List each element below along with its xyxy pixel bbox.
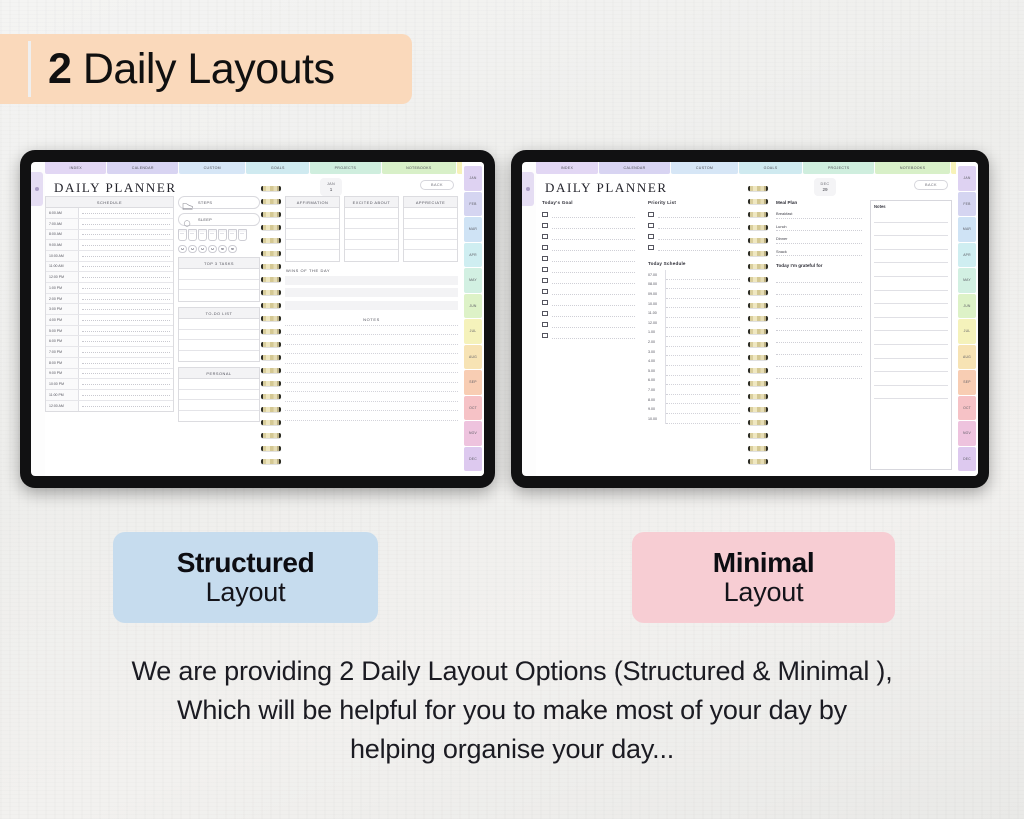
entry-line[interactable] xyxy=(552,233,635,240)
schedule-entry-line[interactable] xyxy=(79,208,173,218)
spiral-ring xyxy=(748,264,768,270)
top3-task-row[interactable] xyxy=(179,280,259,291)
schedule-row[interactable]: 11.00 xyxy=(648,308,740,318)
entry-line[interactable] xyxy=(552,244,635,251)
schedule-entry-line[interactable] xyxy=(666,270,740,280)
gratitude-row[interactable] xyxy=(286,208,339,219)
todo-row[interactable] xyxy=(179,330,259,341)
notes-row[interactable] xyxy=(874,304,948,318)
month-tab-apr[interactable]: APR xyxy=(958,243,976,268)
notes-row[interactable] xyxy=(285,344,458,354)
water-glass-icon[interactable] xyxy=(198,229,207,241)
goal-row[interactable] xyxy=(542,220,635,231)
entry-line[interactable] xyxy=(552,277,635,284)
schedule-row[interactable]: 7:00 AM xyxy=(46,219,173,230)
schedule-entry-line[interactable] xyxy=(79,262,173,272)
grateful-row[interactable] xyxy=(776,298,862,307)
schedule-time: 12:00 AM xyxy=(46,401,79,412)
meal-row[interactable]: Dinner xyxy=(776,236,862,244)
schedule-entry-line[interactable] xyxy=(666,328,740,338)
month-tab-dec[interactable]: DEC xyxy=(958,447,976,472)
tab-goals[interactable]: GOALS xyxy=(246,162,309,174)
notes-row[interactable] xyxy=(285,382,458,392)
top3-tasks-box: TOP 3 TASKS xyxy=(178,257,260,302)
schedule-time: 10:00 AM xyxy=(46,251,79,261)
tab-goals[interactable]: GOALS xyxy=(739,162,802,174)
schedule-entry-line[interactable] xyxy=(79,326,173,336)
notes-row[interactable] xyxy=(285,391,458,401)
month-tab-jan[interactable]: JAN xyxy=(464,166,482,191)
month-tab-sep[interactable]: SEP xyxy=(464,370,482,395)
gratitude-row[interactable] xyxy=(345,240,398,251)
month-tab-apr[interactable]: APR xyxy=(464,243,482,268)
priority-row[interactable] xyxy=(648,209,740,220)
personal-row[interactable] xyxy=(179,390,259,401)
month-tab-mar[interactable]: MAR xyxy=(958,217,976,242)
water-glass-icon[interactable] xyxy=(178,229,187,241)
tab-notebooks[interactable]: NOTEBOOKS xyxy=(382,162,456,174)
month-tab-rail-structured[interactable]: JANFEBMARAPRMAYJUNJULAUGSEPOCTNOVDEC xyxy=(462,162,484,476)
schedule-row[interactable]: 2.00 xyxy=(648,337,740,347)
checkbox-icon[interactable] xyxy=(542,289,548,295)
month-tab-jun[interactable]: JUN xyxy=(464,294,482,319)
goal-row[interactable] xyxy=(542,253,635,264)
entry-line[interactable] xyxy=(552,321,635,328)
gratitude-row[interactable] xyxy=(286,229,339,240)
month-tab-oct[interactable]: OCT xyxy=(464,396,482,421)
schedule-entry-line[interactable] xyxy=(666,337,740,347)
schedule-time: 8.00 xyxy=(648,395,666,405)
goal-row[interactable] xyxy=(542,264,635,275)
schedule-entry-line[interactable] xyxy=(79,251,173,261)
spiral-ring xyxy=(261,290,281,296)
date-badge[interactable]: DEC 29 xyxy=(814,178,836,196)
schedule-entry-line[interactable] xyxy=(79,219,173,229)
mood-face-icon[interactable] xyxy=(188,245,197,254)
schedule-row[interactable]: 1.00 xyxy=(648,328,740,338)
mood-face-icon[interactable] xyxy=(218,245,227,254)
entry-line[interactable] xyxy=(658,222,740,229)
month-tab-aug[interactable]: AUG xyxy=(958,345,976,370)
wins-of-the-day-rows[interactable] xyxy=(285,276,458,310)
entry-line[interactable] xyxy=(552,310,635,317)
top3-task-row[interactable] xyxy=(179,269,259,280)
spiral-ring xyxy=(748,433,768,439)
back-button[interactable]: BACK xyxy=(914,180,948,190)
mood-mouth xyxy=(181,248,184,250)
screen-minimal: INDEXCALENDARCUSTOMGOALSPROJECTSNOTEBOOK… xyxy=(522,162,978,476)
spiral-ring xyxy=(748,303,768,309)
schedule-entry-line[interactable] xyxy=(666,308,740,318)
gratitude-row[interactable] xyxy=(404,208,457,219)
checkbox-icon[interactable] xyxy=(542,234,548,240)
notes-row[interactable] xyxy=(874,386,948,400)
tab-projects[interactable]: PROJECTS xyxy=(310,162,380,174)
notes-row[interactable] xyxy=(285,353,458,363)
entry-line[interactable] xyxy=(552,266,635,273)
entry-line[interactable] xyxy=(658,244,740,251)
affirmation-rows[interactable] xyxy=(286,208,339,261)
tab-index[interactable]: INDEX xyxy=(45,162,106,174)
wins-of-the-day-label: WINS OF THE DAY xyxy=(286,268,458,273)
notes-row[interactable] xyxy=(874,250,948,264)
schedule-row[interactable]: 07.00 xyxy=(648,270,740,280)
entry-line[interactable] xyxy=(552,288,635,295)
meal-row[interactable]: Lunch xyxy=(776,224,862,232)
today-schedule-rows[interactable]: 07.0008.0009.0010.0011.0012.001.002.003.… xyxy=(648,270,740,424)
grateful-row[interactable] xyxy=(776,346,862,355)
priority-list-rows[interactable] xyxy=(648,209,740,253)
tab-custom[interactable]: CUSTOM xyxy=(179,162,245,174)
top3-task-row[interactable] xyxy=(179,290,259,301)
notes-row[interactable] xyxy=(285,410,458,420)
page-title: 2 Daily Layouts xyxy=(48,45,335,94)
month-tab-nov[interactable]: NOV xyxy=(958,421,976,446)
notes-rows[interactable] xyxy=(874,209,948,399)
month-tab-rail-minimal[interactable]: JANFEBMARAPRMAYJUNJULAUGSEPOCTNOVDEC xyxy=(956,162,978,476)
schedule-row[interactable]: 9.00 xyxy=(648,404,740,414)
notes-row[interactable] xyxy=(285,401,458,411)
goal-row[interactable] xyxy=(542,275,635,286)
notes-row[interactable] xyxy=(874,277,948,291)
schedule-row[interactable]: 5:00 PM xyxy=(46,326,173,337)
notes-row[interactable] xyxy=(285,363,458,373)
water-glass-icon[interactable] xyxy=(228,229,237,241)
notes-row[interactable] xyxy=(874,263,948,277)
goal-row[interactable] xyxy=(542,209,635,220)
goal-row[interactable] xyxy=(542,319,635,330)
schedule-time: 7.00 xyxy=(648,385,666,395)
todo-list-box: TO-DO LIST xyxy=(178,307,260,362)
steps-label: STEPS xyxy=(198,200,212,205)
schedule-row[interactable]: 2:00 PM xyxy=(46,294,173,305)
goal-row[interactable] xyxy=(542,242,635,253)
month-tab-jul[interactable]: JUL xyxy=(958,319,976,344)
notes-row[interactable] xyxy=(874,359,948,373)
schedule-entry-line[interactable] xyxy=(666,299,740,309)
gratitude-row[interactable] xyxy=(286,219,339,230)
todays-goal-rows[interactable] xyxy=(542,209,635,341)
mood-face-icon[interactable] xyxy=(198,245,207,254)
tab-projects[interactable]: PROJECTS xyxy=(803,162,874,174)
top-tab-bar-structured[interactable]: INDEXCALENDARCUSTOMGOALSPROJECTSNOTEBOOK… xyxy=(45,162,484,174)
month-tab-aug[interactable]: AUG xyxy=(464,345,482,370)
schedule-row[interactable]: 3.00 xyxy=(648,347,740,357)
entry-line[interactable] xyxy=(658,211,740,218)
schedule-row[interactable]: 8:00 AM xyxy=(46,230,173,241)
date-badge[interactable]: JAN 1 xyxy=(320,178,342,196)
notes-row[interactable] xyxy=(874,372,948,386)
schedule-entry-line[interactable] xyxy=(79,304,173,314)
schedule-entry-line[interactable] xyxy=(79,401,173,412)
tab-notebooks[interactable]: NOTEBOOKS xyxy=(875,162,950,174)
grateful-row[interactable] xyxy=(776,358,862,367)
entry-line[interactable] xyxy=(552,299,635,306)
grateful-row[interactable] xyxy=(776,334,862,343)
water-glass-icon[interactable] xyxy=(188,229,197,241)
notes-row[interactable] xyxy=(874,223,948,237)
month-tab-oct[interactable]: OCT xyxy=(958,396,976,421)
gratitude-row[interactable] xyxy=(286,250,339,261)
goal-row[interactable] xyxy=(542,297,635,308)
gratitude-row[interactable] xyxy=(404,250,457,261)
schedule-row[interactable]: 7:00 PM xyxy=(46,347,173,358)
side-edge-tab[interactable] xyxy=(31,172,43,206)
schedule-time: 3.00 xyxy=(648,347,666,357)
meal-row[interactable]: Breakfast xyxy=(776,211,862,219)
schedule-entry-line[interactable] xyxy=(79,336,173,346)
schedule-row[interactable]: 4.00 xyxy=(648,356,740,366)
grateful-rows[interactable] xyxy=(776,274,862,379)
meal-row[interactable]: Snack xyxy=(776,249,862,257)
schedule-row[interactable]: 10:00 AM xyxy=(46,251,173,262)
entry-line[interactable] xyxy=(552,332,635,339)
tab-calendar[interactable]: CALENDAR xyxy=(107,162,178,174)
notes-row[interactable] xyxy=(874,291,948,305)
wins-row[interactable] xyxy=(285,301,458,310)
checkbox-icon[interactable] xyxy=(648,245,654,251)
personal-row[interactable] xyxy=(179,379,259,390)
goal-row[interactable] xyxy=(542,308,635,319)
grateful-row[interactable] xyxy=(776,274,862,283)
schedule-row[interactable]: 6:00 PM xyxy=(46,336,173,347)
checkbox-icon[interactable] xyxy=(542,267,548,273)
grateful-label: Today I'm grateful for xyxy=(776,263,862,268)
todo-row[interactable] xyxy=(179,351,259,362)
spiral-ring xyxy=(748,316,768,322)
schedule-time: 11.00 xyxy=(648,308,666,318)
notes-box[interactable]: Notes xyxy=(870,200,952,470)
schedule-entry-line[interactable] xyxy=(79,272,173,282)
notes-row[interactable] xyxy=(285,420,458,430)
checkbox-icon[interactable] xyxy=(542,256,548,262)
schedule-entry-line[interactable] xyxy=(666,347,740,357)
checkbox-icon[interactable] xyxy=(648,223,654,229)
schedule-entry-line[interactable] xyxy=(79,240,173,250)
schedule-header: SCHEDULE xyxy=(46,197,173,208)
month-tab-nov[interactable]: NOV xyxy=(464,421,482,446)
schedule-row[interactable]: 9:00 PM xyxy=(46,369,173,380)
schedule-entry-line[interactable] xyxy=(79,230,173,240)
grateful-row[interactable] xyxy=(776,322,862,331)
notes-rows[interactable] xyxy=(285,325,458,430)
schedule-row[interactable]: 8.00 xyxy=(648,395,740,405)
notes-row[interactable] xyxy=(285,372,458,382)
entry-line[interactable] xyxy=(658,233,740,240)
grateful-row[interactable] xyxy=(776,310,862,319)
schedule-row[interactable]: 7.00 xyxy=(648,385,740,395)
spiral-ring xyxy=(748,277,768,283)
schedule-time: 5.00 xyxy=(648,366,666,376)
gratitude-row[interactable] xyxy=(345,219,398,230)
tab-calendar[interactable]: CALENDAR xyxy=(599,162,670,174)
notes-row[interactable] xyxy=(874,345,948,359)
schedule-entry-line[interactable] xyxy=(79,379,173,389)
month-tab-feb[interactable]: FEB xyxy=(958,192,976,217)
steps-tracker[interactable]: STEPS xyxy=(178,196,260,209)
schedule-entry-line[interactable] xyxy=(666,356,740,366)
schedule-row[interactable]: 12:00 PM xyxy=(46,272,173,283)
schedule-entry-line[interactable] xyxy=(666,395,740,405)
entry-line[interactable] xyxy=(552,255,635,262)
month-tab-jan[interactable]: JAN xyxy=(958,166,976,191)
gratitude-row[interactable] xyxy=(345,208,398,219)
spiral-ring xyxy=(748,355,768,361)
checkbox-icon[interactable] xyxy=(542,223,548,229)
affirmation-box: AFFIRMATION xyxy=(285,196,340,262)
month-tab-may[interactable]: MAY xyxy=(958,268,976,293)
schedule-entry-line[interactable] xyxy=(79,347,173,357)
spiral-ring xyxy=(261,264,281,270)
month-tab-sep[interactable]: SEP xyxy=(958,370,976,395)
month-tab-jun[interactable]: JUN xyxy=(958,294,976,319)
grateful-row[interactable] xyxy=(776,286,862,295)
notes-row[interactable] xyxy=(874,209,948,223)
month-tab-dec[interactable]: DEC xyxy=(464,447,482,472)
checkbox-icon[interactable] xyxy=(648,234,654,240)
wins-row[interactable] xyxy=(285,276,458,285)
schedule-row[interactable]: 08.00 xyxy=(648,280,740,290)
schedule-entry-line[interactable] xyxy=(79,390,173,400)
notes-row[interactable] xyxy=(874,318,948,332)
goal-row[interactable] xyxy=(542,231,635,242)
meal-plan-panel: Meal Plan BreakfastLunchDinnerSnack Toda… xyxy=(776,200,862,382)
personal-row[interactable] xyxy=(179,400,259,411)
spiral-ring xyxy=(748,342,768,348)
spiral-ring xyxy=(261,303,281,309)
excited-about-rows[interactable] xyxy=(345,208,398,261)
priority-row[interactable] xyxy=(648,242,740,253)
todo-list-rows[interactable] xyxy=(179,319,259,361)
schedule-row[interactable]: 12:00 AM xyxy=(46,401,173,412)
personal-row[interactable] xyxy=(179,411,259,422)
entry-line[interactable] xyxy=(552,222,635,229)
schedule-row[interactable]: 4:00 PM xyxy=(46,315,173,326)
checkbox-icon[interactable] xyxy=(542,212,548,218)
todo-row[interactable] xyxy=(179,319,259,330)
schedule-row[interactable]: 09.00 xyxy=(648,289,740,299)
schedule-entry-line[interactable] xyxy=(666,289,740,299)
schedule-entry-line[interactable] xyxy=(666,280,740,290)
month-tab-mar[interactable]: MAR xyxy=(464,217,482,242)
side-edge-tab[interactable] xyxy=(522,172,534,206)
month-tab-feb[interactable]: FEB xyxy=(464,192,482,217)
schedule-entry-line[interactable] xyxy=(666,404,740,414)
mood-tracker[interactable] xyxy=(178,245,260,254)
checkbox-icon[interactable] xyxy=(648,212,654,218)
goal-row[interactable] xyxy=(542,286,635,297)
schedule-entry-line[interactable] xyxy=(666,376,740,386)
schedule-entry-line[interactable] xyxy=(79,315,173,325)
gratitude-row[interactable] xyxy=(404,229,457,240)
spiral-ring xyxy=(748,329,768,335)
goal-row[interactable] xyxy=(542,330,635,341)
water-tracker[interactable] xyxy=(178,229,260,241)
entry-line[interactable] xyxy=(552,211,635,218)
todo-row[interactable] xyxy=(179,340,259,351)
schedule-row[interactable]: 5.00 xyxy=(648,366,740,376)
wins-row[interactable] xyxy=(285,288,458,297)
schedule-entry-line[interactable] xyxy=(666,385,740,395)
grateful-row[interactable] xyxy=(776,370,862,379)
schedule-row[interactable]: 1:00 PM xyxy=(46,283,173,294)
priority-row[interactable] xyxy=(648,220,740,231)
checkbox-icon[interactable] xyxy=(542,300,548,306)
checkbox-icon[interactable] xyxy=(542,245,548,251)
checkbox-icon[interactable] xyxy=(542,278,548,284)
mood-face-icon[interactable] xyxy=(178,245,187,254)
schedule-entry-line[interactable] xyxy=(79,369,173,379)
schedule-entry-line[interactable] xyxy=(79,358,173,368)
top-tab-bar-minimal[interactable]: INDEXCALENDARCUSTOMGOALSPROJECTSNOTEBOOK… xyxy=(536,162,978,174)
notes-row[interactable] xyxy=(285,334,458,344)
appreciate-rows[interactable] xyxy=(404,208,457,261)
schedule-row[interactable]: 11:00 AM xyxy=(46,262,173,273)
month-tab-may[interactable]: MAY xyxy=(464,268,482,293)
schedule-entry-line[interactable] xyxy=(79,283,173,293)
schedule-row[interactable]: 10.00 xyxy=(648,414,740,424)
notes-row[interactable] xyxy=(874,331,948,345)
schedule-time: 10.00 xyxy=(648,299,666,309)
schedule-row[interactable]: 8:00 PM xyxy=(46,358,173,369)
schedule-entry-line[interactable] xyxy=(666,414,740,424)
schedule-row[interactable]: 9:00 AM xyxy=(46,240,173,251)
sleep-tracker[interactable]: SLEEP xyxy=(178,213,260,226)
badge-structured-line1: Structured xyxy=(177,548,315,578)
schedule-row[interactable]: 11:00 PM xyxy=(46,390,173,401)
schedule-row[interactable]: 6:00 AM xyxy=(46,208,173,219)
schedule-row[interactable]: 10.00 xyxy=(648,299,740,309)
month-tab-jul[interactable]: JUL xyxy=(464,319,482,344)
tab-custom[interactable]: CUSTOM xyxy=(671,162,738,174)
water-glass-icon[interactable] xyxy=(218,229,227,241)
gratitude-row[interactable] xyxy=(345,229,398,240)
mood-face-icon[interactable] xyxy=(208,245,217,254)
schedule-row[interactable]: 12.00 xyxy=(648,318,740,328)
tab-index[interactable]: INDEX xyxy=(536,162,598,174)
schedule-entry-line[interactable] xyxy=(666,318,740,328)
schedule-entry-line[interactable] xyxy=(666,366,740,376)
schedule-row[interactable]: 10:00 PM xyxy=(46,379,173,390)
mood-face-icon[interactable] xyxy=(228,245,237,254)
spiral-ring xyxy=(748,394,768,400)
priority-row[interactable] xyxy=(648,231,740,242)
page-title-band: 2 Daily Layouts xyxy=(0,34,412,104)
spiral-ring xyxy=(261,277,281,283)
checkbox-icon[interactable] xyxy=(542,333,548,339)
top3-tasks-rows[interactable] xyxy=(179,269,259,301)
checkbox-icon[interactable] xyxy=(542,311,548,317)
back-button[interactable]: BACK xyxy=(420,180,454,190)
gratitude-row[interactable] xyxy=(286,240,339,251)
notes-row[interactable] xyxy=(874,236,948,250)
gratitude-row[interactable] xyxy=(345,250,398,261)
schedule-entry-line[interactable] xyxy=(79,294,173,304)
water-glass-icon[interactable] xyxy=(238,229,247,241)
schedule-panel: SCHEDULE 6:00 AM7:00 AM8:00 AM9:00 AM10:… xyxy=(45,196,174,412)
notes-row[interactable] xyxy=(285,325,458,335)
water-glass-icon[interactable] xyxy=(208,229,217,241)
schedule-row[interactable]: 3:00 PM xyxy=(46,304,173,315)
personal-rows[interactable] xyxy=(179,379,259,421)
gratitude-row[interactable] xyxy=(404,219,457,230)
gratitude-row[interactable] xyxy=(404,240,457,251)
spiral-ring xyxy=(748,199,768,205)
schedule-row[interactable]: 6.00 xyxy=(648,376,740,386)
meal-rows[interactable]: BreakfastLunchDinnerSnack xyxy=(776,211,862,256)
schedule-time: 10.00 xyxy=(648,414,666,424)
checkbox-icon[interactable] xyxy=(542,322,548,328)
